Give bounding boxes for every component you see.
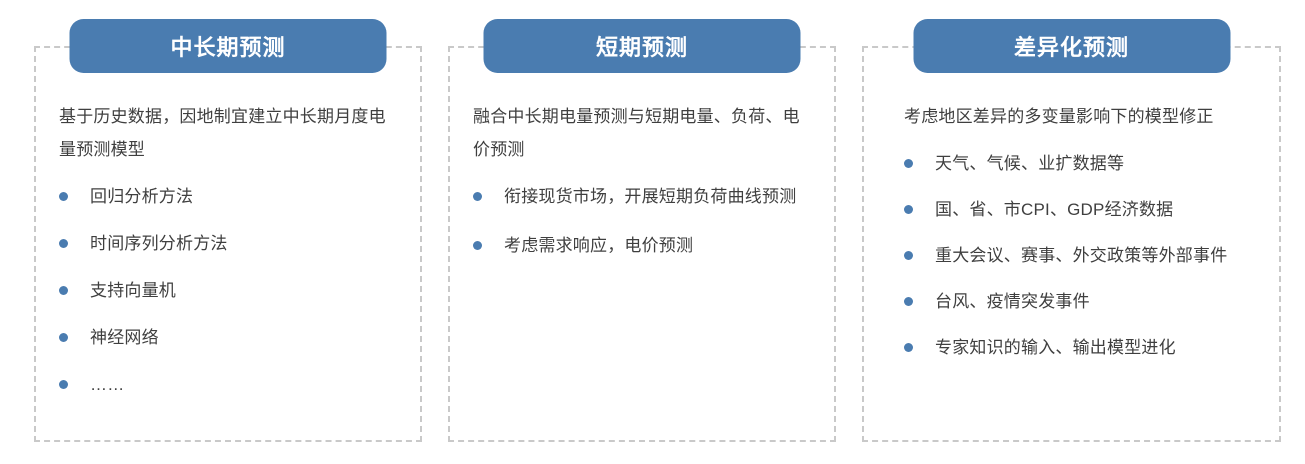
panel-title-text: 中长期预测 [170,30,285,62]
bullet-dot-icon [904,159,913,168]
bullet-dot-icon [59,286,68,295]
forecast-panels-board: 中长期预测 基于历史数据，因地制宜建立中长期月度电量预测模型 回归分析方法 时间… [0,0,1305,464]
list-item-label: 支持向量机 [90,274,176,307]
bullet-dot-icon [473,192,482,201]
list-item: 支持向量机 [59,274,398,307]
list-item-label: 衔接现货市场，开展短期负荷曲线预测 [504,180,796,213]
panel-header-differentiated-forecast: 差异化预测 [913,19,1230,73]
list-item-label: 回归分析方法 [90,180,193,213]
bullet-dot-icon [473,241,482,250]
list-item-label: 神经网络 [90,321,159,354]
list-item: 回归分析方法 [59,180,398,213]
list-item-label: 时间序列分析方法 [90,227,228,260]
panel-mid-long-term-forecast: 中长期预测 基于历史数据，因地制宜建立中长期月度电量预测模型 回归分析方法 时间… [34,46,422,442]
list-item: 国、省、市CPI、GDP经济数据 [904,193,1265,226]
panel-body-mid-long-term-forecast: 基于历史数据，因地制宜建立中长期月度电量预测模型 回归分析方法 时间序列分析方法… [36,48,420,440]
panel-body-short-term-forecast: 融合中长期电量预测与短期电量、负荷、电价预测 衔接现货市场，开展短期负荷曲线预测… [450,48,834,440]
list-item: …… [59,368,398,401]
list-item: 神经网络 [59,321,398,354]
list-item-label: 专家知识的输入、输出模型进化 [935,331,1176,364]
list-item: 台风、疫情突发事件 [904,285,1265,318]
bullet-dot-icon [904,205,913,214]
bullet-dot-icon [904,297,913,306]
list-item-label: 台风、疫情突发事件 [935,285,1090,318]
bullet-dot-icon [904,251,913,260]
list-item-label: 考虑需求响应，电价预测 [504,229,693,262]
list-item-label: …… [90,368,124,401]
list-item: 专家知识的输入、输出模型进化 [904,331,1265,364]
list-item: 天气、气候、业扩数据等 [904,147,1265,180]
list-item: 时间序列分析方法 [59,227,398,260]
list-item-label: 重大会议、赛事、外交政策等外部事件 [935,239,1227,272]
list-item-label: 天气、气候、业扩数据等 [935,147,1124,180]
bullet-dot-icon [59,333,68,342]
panel-short-term-forecast: 短期预测 融合中长期电量预测与短期电量、负荷、电价预测 衔接现货市场，开展短期负… [448,46,836,442]
bullet-dot-icon [59,380,68,389]
list-item: 重大会议、赛事、外交政策等外部事件 [904,239,1265,272]
list-item: 考虑需求响应，电价预测 [473,229,812,262]
panel-intro-text: 基于历史数据，因地制宜建立中长期月度电量预测模型 [59,100,398,166]
bullet-list: 天气、气候、业扩数据等 国、省、市CPI、GDP经济数据 重大会议、赛事、外交政… [904,147,1265,364]
panel-title-text: 差异化预测 [1014,30,1129,62]
panel-intro-text: 考虑地区差异的多变量影响下的模型修正 [904,100,1265,133]
bullet-dot-icon [59,192,68,201]
bullet-list: 回归分析方法 时间序列分析方法 支持向量机 神经网络 …… [59,180,398,401]
panel-title-text: 短期预测 [596,30,688,62]
bullet-dot-icon [59,239,68,248]
panel-body-differentiated-forecast: 考虑地区差异的多变量影响下的模型修正 天气、气候、业扩数据等 国、省、市CPI、… [864,48,1279,440]
bullet-list: 衔接现货市场，开展短期负荷曲线预测 考虑需求响应，电价预测 [473,180,812,262]
bullet-dot-icon [904,343,913,352]
panel-differentiated-forecast: 差异化预测 考虑地区差异的多变量影响下的模型修正 天气、气候、业扩数据等 国、省… [862,46,1281,442]
list-item: 衔接现货市场，开展短期负荷曲线预测 [473,180,812,213]
panel-header-short-term-forecast: 短期预测 [484,19,801,73]
panel-intro-text: 融合中长期电量预测与短期电量、负荷、电价预测 [473,100,812,166]
list-item-label: 国、省、市CPI、GDP经济数据 [935,193,1173,226]
panel-header-mid-long-term-forecast: 中长期预测 [70,19,387,73]
